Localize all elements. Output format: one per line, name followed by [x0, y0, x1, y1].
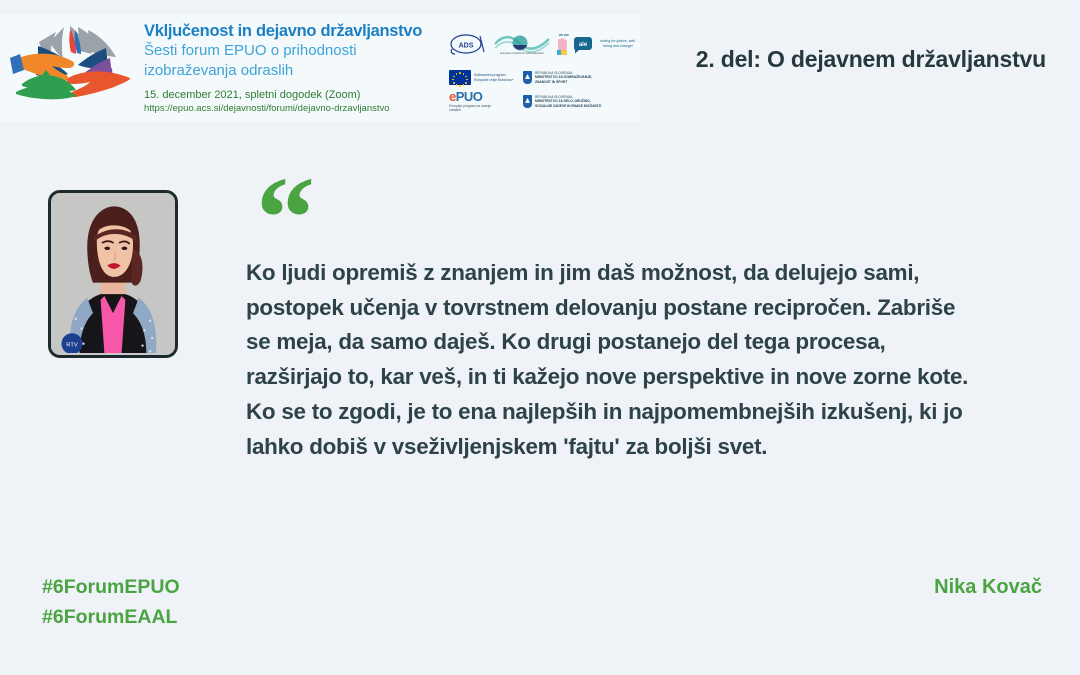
slide-section-title: 2. del: O dejavnem državljanstvu — [696, 46, 1046, 73]
banner-subtitle-line1: Šesti forum EPUO o prihodnosti — [144, 42, 445, 61]
epuo-logo-block: ePUO Evropski program za učenje odraslih — [449, 90, 495, 113]
slovenia-coat-of-arms-icon — [523, 71, 532, 84]
ministry-education-block: REPUBLIKA SLOVENIJA MINISTRSTVO ZA IZOBR… — [535, 71, 607, 84]
epuo-logo-wordmark: ePUO — [449, 90, 495, 103]
partner-logos-bottom-row: Sofinancira program Evropske unije Erasm… — [449, 70, 639, 116]
banner-event-date: 15. december 2021, spletni dogodek (Zoom… — [144, 89, 445, 102]
banner-text-block: Vključenost in dejavno državljanstvo Šes… — [136, 22, 445, 114]
ale-hand-logo-icon: we are ale — [555, 31, 593, 57]
eu-funding-line: Sofinancira program Evropske unije Erasm… — [449, 70, 639, 85]
svg-text:ADS: ADS — [459, 43, 474, 50]
banner-title: Vključenost in dejavno državljanstvo — [144, 22, 445, 41]
event-banner: Vključenost in dejavno državljanstvo Šes… — [0, 14, 640, 122]
ministry-labour-name: MINISTRSTVO ZA DELO, DRUŽINO, SOCIALNE Z… — [535, 99, 607, 108]
speaker-portrait: RTV — [48, 190, 178, 358]
eaea-wave-logo-icon: European Institute for Adult Education — [493, 31, 551, 57]
eu-flag-icon — [449, 70, 471, 85]
ministry-labour-block: REPUBLIKA SLOVENIJA MINISTRSTVO ZA DELO,… — [535, 95, 607, 108]
svg-text:European Institute for Adult E: European Institute for Adult Education — [500, 51, 544, 55]
quote-text: Ko ljudi opremiš z znanjem in jim daš mo… — [246, 256, 976, 464]
hashtag-forum-epuo[interactable]: #6ForumEPUO — [42, 572, 180, 602]
partner-logos: ADS European Institute for Adult Educati… — [445, 18, 640, 118]
slovenia-coat-of-arms-icon-2 — [523, 95, 532, 108]
hashtag-forum-eaal[interactable]: #6ForumEAAL — [42, 602, 180, 632]
epuo-logo-caption: Evropski program za učenje odraslih — [449, 104, 495, 113]
ads-logo-icon: ADS — [449, 33, 489, 55]
banner-event-url[interactable]: https://epuo.acs.si/dejavnosti/forumi/de… — [144, 103, 445, 114]
ale-tagline: uniting for justice, well-being and chan… — [597, 39, 639, 49]
ministry-education-name: MINISTRSTVO ZA IZOBRAŽEVANJE, ZNANOST IN… — [535, 75, 607, 84]
epuo-line: ePUO Evropski program za učenje odraslih… — [449, 90, 639, 113]
forum-hands-book-logo — [8, 18, 136, 118]
svg-text:we are: we are — [558, 33, 569, 37]
header-band: Vključenost in dejavno državljanstvo Šes… — [0, 0, 1080, 136]
hashtags-block: #6ForumEPUO #6ForumEAAL — [42, 572, 180, 632]
svg-text:RTV: RTV — [66, 343, 78, 349]
svg-text:ale: ale — [579, 42, 588, 48]
partner-logos-top-row: ADS European Institute for Adult Educati… — [449, 24, 639, 64]
banner-subtitle-line2: izobraževanja odraslih — [144, 62, 445, 81]
speaker-name: Nika Kovač — [934, 576, 1042, 599]
quote-mark-icon: “ — [256, 172, 311, 264]
eu-funding-caption: Sofinancira program Evropske unije Erasm… — [474, 73, 520, 82]
